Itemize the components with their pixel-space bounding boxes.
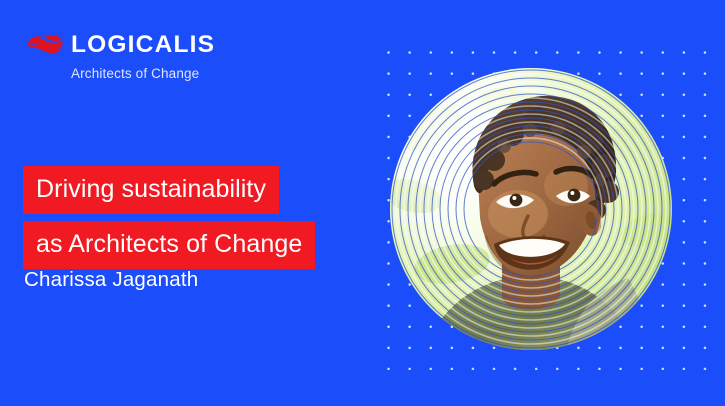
slide-title: Driving sustainability as Architects of … bbox=[23, 166, 315, 269]
presentation-slide: LOGICALIS Architects of Change Driving s… bbox=[0, 0, 725, 406]
logo-wordmark: LOGICALIS bbox=[71, 33, 215, 58]
photo-illustration bbox=[390, 68, 672, 350]
logo-row: LOGICALIS bbox=[26, 33, 215, 58]
logicalis-logo: LOGICALIS Architects of Change bbox=[26, 33, 215, 80]
speaker-name: Charissa Jaganath bbox=[24, 270, 198, 291]
title-line-2: as Architects of Change bbox=[23, 221, 315, 269]
logo-tagline: Architects of Change bbox=[71, 67, 199, 81]
title-line-1: Driving sustainability bbox=[23, 166, 279, 214]
speaker-photo bbox=[390, 68, 672, 350]
logicalis-ribbon-mark bbox=[26, 34, 64, 56]
